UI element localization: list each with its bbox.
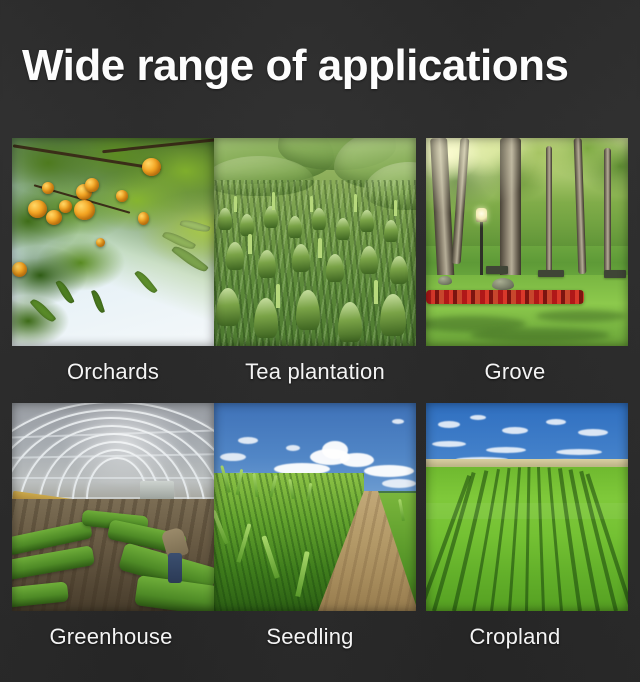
cloud xyxy=(340,453,374,467)
application-gallery: Orchards xyxy=(0,0,640,682)
gallery-item-grove[interactable]: Grove xyxy=(426,138,628,386)
cloud xyxy=(502,427,528,434)
tree-trunk xyxy=(604,148,611,272)
lawn-shadow xyxy=(536,310,626,322)
cloud xyxy=(392,419,404,424)
cloud xyxy=(438,421,460,428)
orange-fruit xyxy=(74,200,95,220)
cloud xyxy=(432,441,466,447)
lawn-shadow xyxy=(470,328,610,342)
field-light-band xyxy=(426,503,628,519)
crop-row-line xyxy=(537,467,545,611)
orange-fruit xyxy=(42,182,54,194)
cloud xyxy=(546,419,566,425)
gallery-item-cropland[interactable]: Cropland xyxy=(426,403,628,651)
orange-fruit xyxy=(116,190,128,202)
gallery-item-seedling[interactable]: Seedling xyxy=(214,403,416,651)
orange-fruit xyxy=(59,200,72,213)
tea-shoot xyxy=(310,196,313,212)
orange-fruit xyxy=(28,200,47,218)
tea-shoot xyxy=(272,192,275,210)
gallery-item-tea-plantation[interactable]: Tea plantation xyxy=(214,138,416,386)
tea-shoot xyxy=(234,196,237,212)
gallery-item-caption: Seedling xyxy=(214,623,416,651)
tea-plantation-image xyxy=(214,138,416,346)
gallery-item-caption: Greenhouse xyxy=(12,623,214,651)
gallery-item-orchards[interactable]: Orchards xyxy=(12,138,214,386)
grove-image xyxy=(426,138,628,346)
park-bench xyxy=(604,270,626,278)
orchards-image xyxy=(12,138,214,346)
tea-shoot xyxy=(318,238,322,258)
cloud xyxy=(556,449,602,455)
cloud xyxy=(486,447,526,453)
greenhouse-image xyxy=(12,403,214,611)
gallery-item-caption: Orchards xyxy=(12,358,214,386)
orange-fruit xyxy=(46,210,62,225)
tea-shoot xyxy=(394,200,397,216)
crop-row-line xyxy=(472,469,500,611)
orange-fruit xyxy=(96,238,105,247)
cloud xyxy=(238,437,258,444)
park-bench xyxy=(486,266,508,274)
cloud xyxy=(382,479,416,488)
cloud xyxy=(364,465,414,477)
gallery-item-caption: Grove xyxy=(426,358,628,386)
orange-fruit xyxy=(85,178,99,192)
tunnel-rib xyxy=(12,477,214,479)
orange-fruit xyxy=(138,212,149,225)
cloud xyxy=(220,453,246,461)
tree-trunk xyxy=(546,146,552,274)
cloud xyxy=(470,415,486,420)
crop-row-lines xyxy=(426,467,628,611)
cloud xyxy=(578,429,608,436)
garden-rock xyxy=(492,278,514,290)
tea-shoot xyxy=(248,234,252,254)
crop-row-line xyxy=(508,467,521,611)
cloud xyxy=(286,445,300,451)
gallery-item-caption: Cropland xyxy=(426,623,628,651)
park-bench xyxy=(538,270,564,277)
cropland-image xyxy=(426,403,628,611)
orange-fruit xyxy=(142,158,161,176)
tea-shoot xyxy=(374,280,378,304)
garden-rock xyxy=(438,276,452,285)
tree-trunk xyxy=(500,138,521,284)
orange-fruit xyxy=(12,262,27,277)
crop-row-line xyxy=(558,468,582,611)
lamp-head-icon xyxy=(476,208,487,222)
worker-legs xyxy=(168,553,182,583)
lamp-post xyxy=(480,214,483,280)
flower-bed xyxy=(426,290,584,304)
tea-shoot xyxy=(276,284,280,308)
gallery-item-caption: Tea plantation xyxy=(214,358,416,386)
crop-row-line xyxy=(525,467,531,611)
gallery-item-greenhouse[interactable]: Greenhouse xyxy=(12,403,214,651)
seedling-image xyxy=(214,403,416,611)
tea-shoot xyxy=(354,194,357,212)
